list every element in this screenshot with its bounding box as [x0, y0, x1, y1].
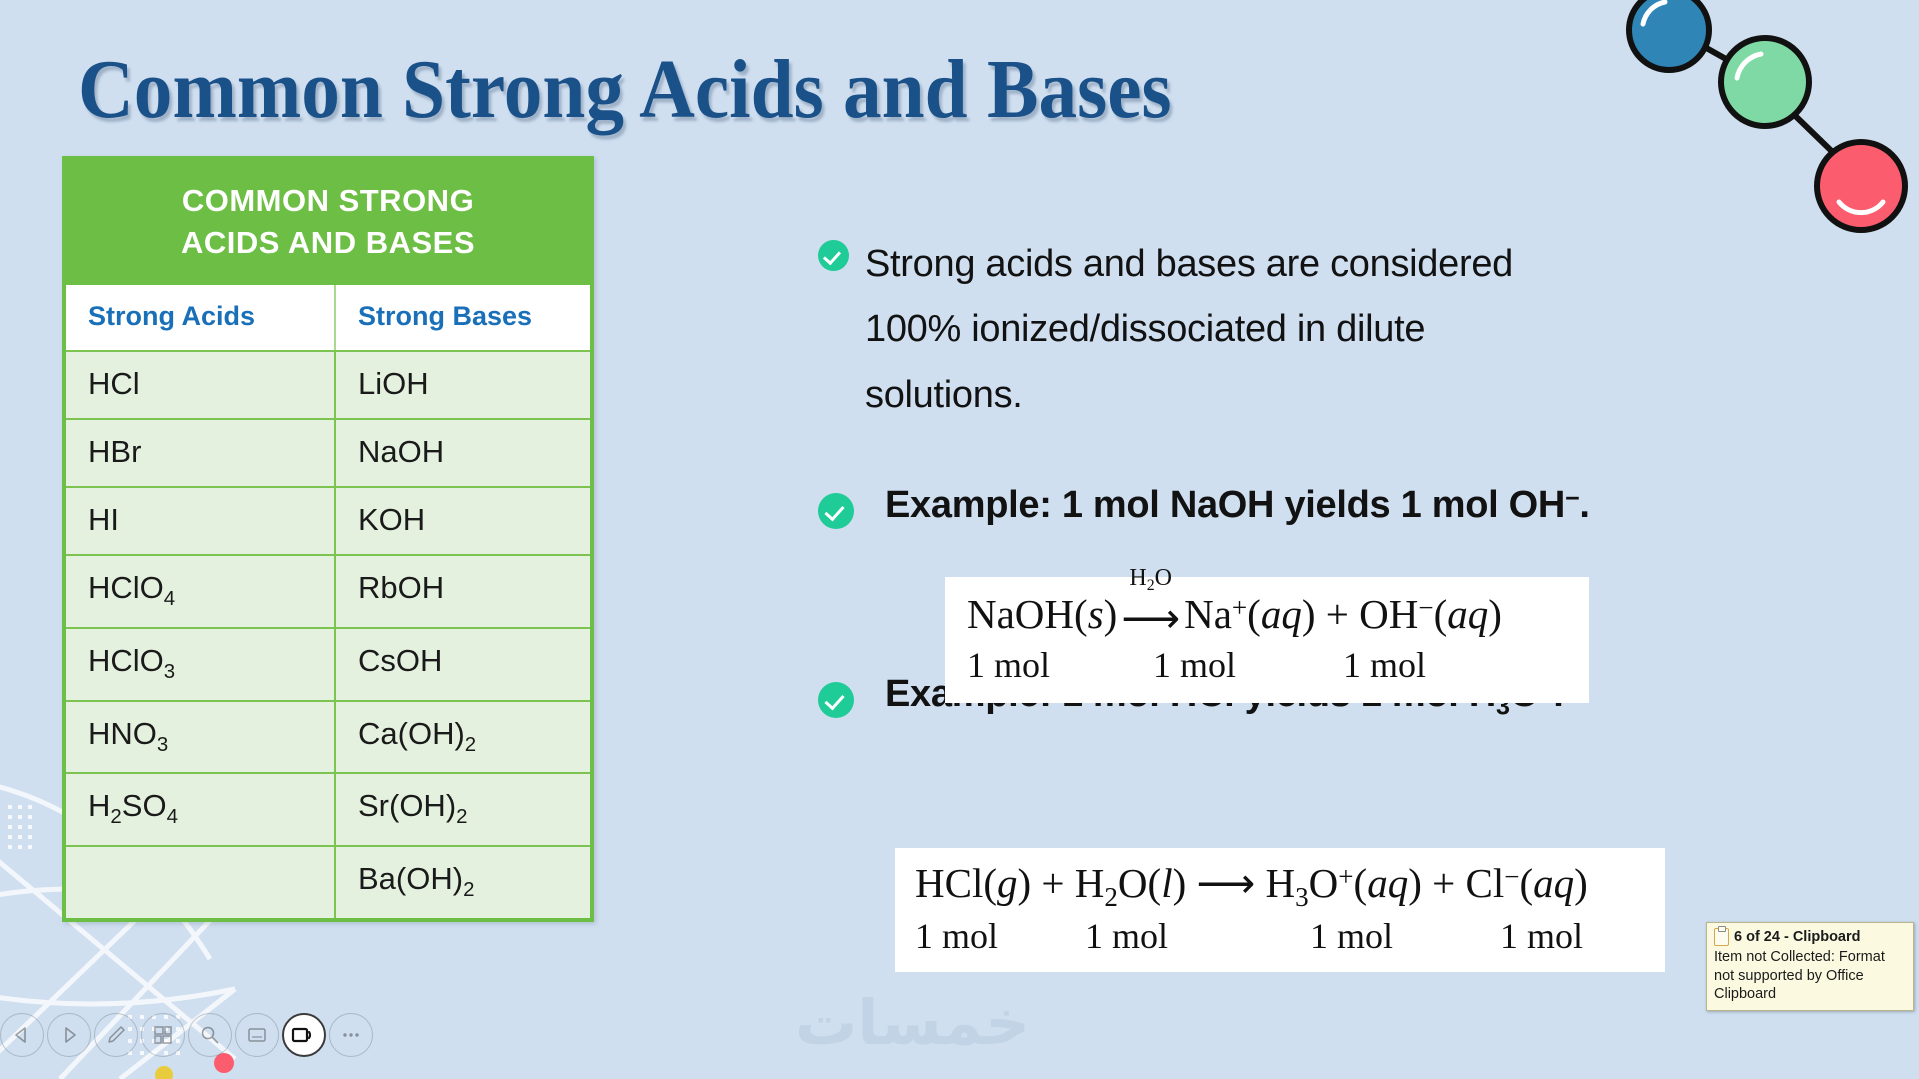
- clipboard-toast[interactable]: 6 of 24 - Clipboard Item not Collected: …: [1706, 922, 1914, 1011]
- camera-button[interactable]: [282, 1013, 326, 1057]
- bullet-item-1: Strong acids and bases are considered 10…: [818, 232, 1558, 428]
- pen-icon: [105, 1024, 127, 1046]
- table-header-title: COMMON STRONG ACIDS AND BASES: [66, 160, 590, 285]
- clipboard-toast-title: 6 of 24 - Clipboard: [1734, 929, 1861, 945]
- cell-acid: HNO3: [66, 702, 334, 773]
- table-row: HBr NaOH: [66, 418, 590, 486]
- zoom-button[interactable]: [188, 1013, 232, 1057]
- molecule-decoration: [1599, 0, 1919, 254]
- bullet-text: Strong acids and bases are considered 10…: [865, 232, 1558, 428]
- all-slides-button[interactable]: [141, 1013, 185, 1057]
- bullet-text: Example: 1 mol NaOH yields 1 mol OH−.: [885, 483, 1590, 529]
- magnifier-icon: [199, 1024, 221, 1046]
- clipboard-toast-body: Item not Collected: Format not supported…: [1714, 948, 1907, 1004]
- clipboard-icon: [1714, 928, 1729, 946]
- chevron-left-icon: [12, 1025, 32, 1045]
- cell-acid: H2SO4: [66, 774, 334, 845]
- table-row: HNO3 Ca(OH)2: [66, 700, 590, 773]
- clipboard-toast-header: 6 of 24 - Clipboard: [1714, 928, 1907, 946]
- chevron-right-icon: [59, 1025, 79, 1045]
- table-row: HCl LiOH: [66, 350, 590, 418]
- equation-line: HCl(g) + H2O(l) ⟶ H3O+(aq) + Cl−(aq): [915, 860, 1645, 913]
- cell-acid-empty: [66, 847, 334, 918]
- check-circle-icon: [818, 682, 854, 718]
- watermark: خمسات: [795, 992, 1030, 1054]
- column-header-strong-bases: Strong Bases: [334, 285, 590, 350]
- equation-mol-line: 1 mol1 mol1 mol1 mol: [915, 915, 1645, 958]
- atom-red-icon: [1817, 142, 1905, 230]
- presenter-toolbar[interactable]: [0, 1013, 330, 1073]
- cell-base: LiOH: [334, 352, 590, 418]
- cell-base: KOH: [334, 488, 590, 554]
- equation-mol-line: 1 mol1 mol1 mol: [967, 644, 1567, 687]
- blackboard-button[interactable]: [235, 1013, 279, 1057]
- grid-icon: [152, 1024, 174, 1046]
- cell-acid: HBr: [66, 420, 334, 486]
- pen-tool-button[interactable]: [94, 1013, 138, 1057]
- cell-base: Sr(OH)2: [334, 774, 590, 845]
- cell-acid: HClO4: [66, 556, 334, 627]
- cell-base: Ba(OH)2: [334, 847, 590, 918]
- table-row: HClO3 CsOH: [66, 627, 590, 700]
- table-row: HI KOH: [66, 486, 590, 554]
- page-title: Common Strong Acids and Bases: [78, 48, 1172, 132]
- equation-line: NaOH(s)H2O⟶Na+(aq) + OH−(aq): [967, 591, 1567, 642]
- column-header-strong-acids: Strong Acids: [66, 285, 334, 350]
- cell-base: RbOH: [334, 556, 590, 627]
- cell-base: CsOH: [334, 629, 590, 700]
- cell-acid: HCl: [66, 352, 334, 418]
- table-header-line2: ACIDS AND BASES: [76, 222, 580, 264]
- atom-green-icon: [1721, 38, 1809, 126]
- arrow-label: H2O: [1129, 565, 1172, 595]
- cell-base: NaOH: [334, 420, 590, 486]
- cell-acid: HClO3: [66, 629, 334, 700]
- more-options-button[interactable]: [329, 1013, 373, 1057]
- table-column-headers: Strong Acids Strong Bases: [66, 285, 590, 350]
- video-camera-icon: [291, 1024, 317, 1046]
- table-row: HClO4 RbOH: [66, 554, 590, 627]
- bullet-item-2: Example: 1 mol NaOH yields 1 mol OH−.: [818, 483, 1878, 529]
- cell-acid: HI: [66, 488, 334, 554]
- cell-base: Ca(OH)2: [334, 702, 590, 773]
- next-slide-button[interactable]: [47, 1013, 91, 1057]
- check-circle-icon: [818, 493, 854, 529]
- ellipsis-icon: [340, 1024, 362, 1046]
- reaction-arrow: H2O⟶: [1121, 595, 1180, 642]
- table-row: Ba(OH)2: [66, 845, 590, 918]
- acid-base-table: COMMON STRONG ACIDS AND BASES Strong Aci…: [62, 156, 594, 922]
- screen-icon: [246, 1024, 268, 1046]
- check-circle-icon: [818, 240, 849, 271]
- equation-box-hcl: HCl(g) + H2O(l) ⟶ H3O+(aq) + Cl−(aq) 1 m…: [895, 848, 1665, 972]
- previous-slide-button[interactable]: [0, 1013, 44, 1057]
- table-row: H2SO4 Sr(OH)2: [66, 772, 590, 845]
- table-header-line1: COMMON STRONG: [76, 180, 580, 222]
- equation-box-naoh: NaOH(s)H2O⟶Na+(aq) + OH−(aq) 1 mol1 mol1…: [945, 577, 1589, 703]
- atom-blue-icon: [1629, 0, 1709, 70]
